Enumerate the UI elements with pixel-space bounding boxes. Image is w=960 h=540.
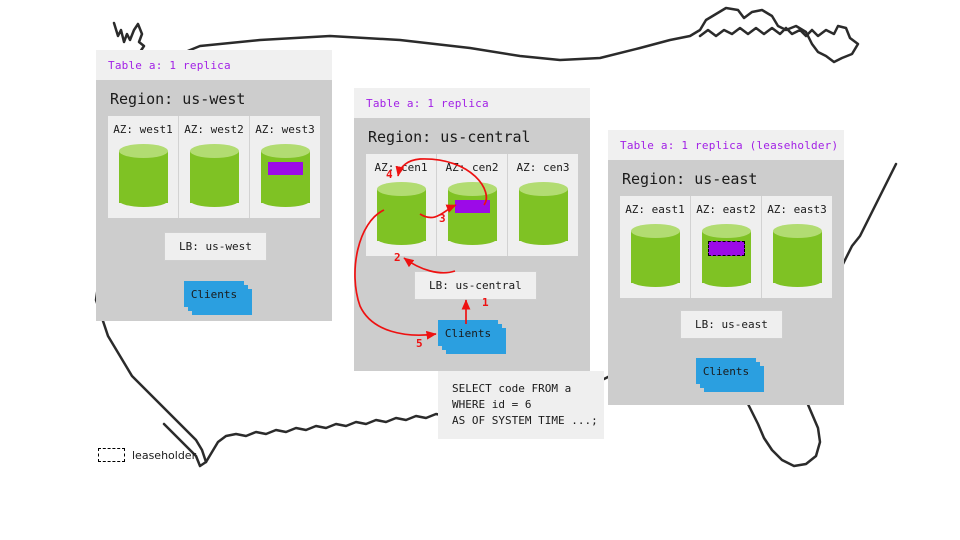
az-west3[interactable]: AZ: west3 xyxy=(250,116,320,218)
load-balancer-us-west[interactable]: LB: us-west xyxy=(164,232,267,261)
clients-card-front[interactable]: Clients xyxy=(184,281,244,307)
cylinder-body xyxy=(519,189,568,241)
az-west2[interactable]: AZ: west2 xyxy=(179,116,250,218)
az-west1[interactable]: AZ: west1 xyxy=(108,116,179,218)
az-label: AZ: west3 xyxy=(255,123,315,136)
dashed-rect-icon xyxy=(98,448,125,462)
cylinder-top xyxy=(773,224,822,238)
replica-cylinder[interactable] xyxy=(261,144,310,206)
arrow-number-3: 3 xyxy=(439,212,446,225)
clients-us-west[interactable]: Clients xyxy=(184,281,242,305)
arrow-number-2: 2 xyxy=(394,251,401,264)
load-balancer-us-central[interactable]: LB: us-central xyxy=(414,271,537,300)
az-east2[interactable]: AZ: east2 xyxy=(691,196,762,298)
replica-cylinder[interactable] xyxy=(119,144,168,206)
az-cen3[interactable]: AZ: cen3 xyxy=(508,154,578,256)
cylinder-body xyxy=(631,231,680,283)
cylinder-top xyxy=(119,144,168,158)
az-cen1[interactable]: AZ: cen1 xyxy=(366,154,437,256)
az-label: AZ: west2 xyxy=(184,123,244,136)
cylinder-top xyxy=(702,224,751,238)
replica-cylinder[interactable] xyxy=(377,182,426,244)
arrow-number-4: 4 xyxy=(386,168,393,181)
range-replica-bar xyxy=(455,200,490,213)
az-label: AZ: cen1 xyxy=(375,161,428,174)
region-title: Region: us-central xyxy=(354,118,590,154)
az-label: AZ: east2 xyxy=(696,203,756,216)
leaseholder-range-bar xyxy=(708,241,745,256)
replica-cylinder[interactable] xyxy=(631,224,680,286)
az-row: AZ: cen1 AZ: cen2 xyxy=(366,154,578,256)
replica-cylinder[interactable] xyxy=(702,224,751,286)
clients-us-east[interactable]: Clients xyxy=(696,358,754,382)
sql-query-box: SELECT code FROM a WHERE id = 6 AS OF SY… xyxy=(438,371,604,439)
region-title: Region: us-west xyxy=(96,80,332,116)
clients-card-front[interactable]: Clients xyxy=(696,358,756,384)
az-east1[interactable]: AZ: east1 xyxy=(620,196,691,298)
cylinder-top xyxy=(261,144,310,158)
cylinder-body xyxy=(119,151,168,203)
region-replica-header: Table a: 1 replica (leaseholder) xyxy=(608,130,844,160)
region-title: Region: us-east xyxy=(608,160,844,196)
region-us-west: Table a: 1 replica Region: us-west AZ: w… xyxy=(96,50,332,321)
clients-card-front[interactable]: Clients xyxy=(438,320,498,346)
az-row: AZ: east1 AZ: east2 xyxy=(620,196,832,298)
cylinder-top xyxy=(448,182,497,196)
cylinder-body xyxy=(377,189,426,241)
cylinder-body xyxy=(702,231,751,283)
az-row: AZ: west1 AZ: west2 AZ xyxy=(108,116,320,218)
cylinder-body xyxy=(261,151,310,203)
region-replica-header: Table a: 1 replica xyxy=(96,50,332,80)
cylinder-top xyxy=(631,224,680,238)
az-east3[interactable]: AZ: east3 xyxy=(762,196,832,298)
load-balancer-us-east[interactable]: LB: us-east xyxy=(680,310,783,339)
cylinder-body xyxy=(190,151,239,203)
az-label: AZ: east1 xyxy=(625,203,685,216)
az-label: AZ: cen2 xyxy=(446,161,499,174)
cylinder-top xyxy=(519,182,568,196)
replica-cylinder[interactable] xyxy=(190,144,239,206)
cylinder-top xyxy=(190,144,239,158)
diagram-stage: Table a: 1 replica Region: us-west AZ: w… xyxy=(0,0,960,540)
az-label: AZ: west1 xyxy=(113,123,173,136)
legend: leaseholder xyxy=(98,448,196,462)
cylinder-body xyxy=(773,231,822,283)
cylinder-top xyxy=(377,182,426,196)
replica-cylinder[interactable] xyxy=(448,182,497,244)
arrow-number-5: 5 xyxy=(416,337,423,350)
legend-label: leaseholder xyxy=(132,449,196,462)
cylinder-body xyxy=(448,189,497,241)
az-label: AZ: east3 xyxy=(767,203,827,216)
region-us-east: Table a: 1 replica (leaseholder) Region:… xyxy=(608,130,844,405)
az-label: AZ: cen3 xyxy=(517,161,570,174)
range-replica-bar xyxy=(268,162,303,175)
region-us-central: Table a: 1 replica Region: us-central AZ… xyxy=(354,88,590,371)
az-cen2[interactable]: AZ: cen2 xyxy=(437,154,508,256)
replica-cylinder[interactable] xyxy=(519,182,568,244)
arrow-number-1: 1 xyxy=(482,296,489,309)
region-replica-header: Table a: 1 replica xyxy=(354,88,590,118)
clients-us-central[interactable]: Clients xyxy=(438,320,496,344)
replica-cylinder[interactable] xyxy=(773,224,822,286)
